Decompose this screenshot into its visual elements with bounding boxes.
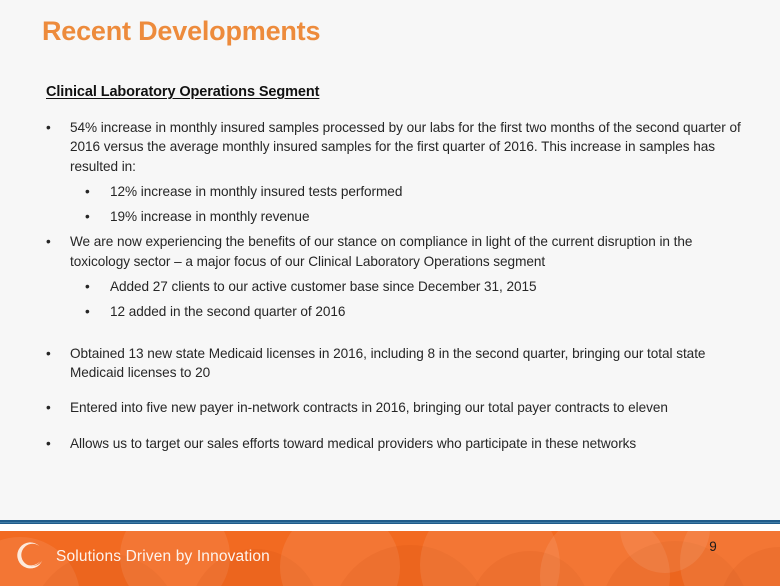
list-item-text: We are now experiencing the benefits of … xyxy=(70,234,692,268)
list-item-text: Allows us to target our sales efforts to… xyxy=(70,436,636,451)
watermark-circle xyxy=(720,547,780,586)
watermark-circle xyxy=(540,531,670,586)
spacer xyxy=(46,382,746,398)
bullet-list: • 54% increase in monthly insured sample… xyxy=(46,118,746,453)
list-item: • We are now experiencing the benefits o… xyxy=(46,232,746,271)
list-item-text: Obtained 13 new state Medicaid licenses … xyxy=(70,346,705,380)
list-item: • 12 added in the second quarter of 2016 xyxy=(46,302,746,321)
list-item-text: 54% increase in monthly insured samples … xyxy=(70,120,741,174)
list-item: • 54% increase in monthly insured sample… xyxy=(46,118,746,176)
bullet-dot-icon: • xyxy=(46,434,51,453)
footer-tagline: Solutions Driven by Innovation xyxy=(56,548,270,566)
bullet-dot-icon: • xyxy=(46,118,51,137)
list-item: • Allows us to target our sales efforts … xyxy=(46,434,746,453)
list-item: • Added 27 clients to our active custome… xyxy=(46,277,746,296)
list-item-text: 12% increase in monthly insured tests pe… xyxy=(110,184,402,199)
watermark-circle xyxy=(600,541,750,586)
list-item-text: 19% increase in monthly revenue xyxy=(110,209,309,224)
spacer xyxy=(46,418,746,434)
list-item: • Obtained 13 new state Medicaid license… xyxy=(46,344,746,383)
list-item-text: Entered into five new payer in-network c… xyxy=(70,400,668,415)
list-item: • 19% increase in monthly revenue xyxy=(46,207,746,226)
page-title: Recent Developments xyxy=(42,16,320,47)
bullet-dot-icon: • xyxy=(46,398,51,417)
watermark-circle xyxy=(280,531,400,586)
bullet-dot-icon: • xyxy=(46,344,51,363)
footer-rule-blue-highlight xyxy=(0,522,780,523)
bullet-dot-icon: • xyxy=(85,182,90,201)
watermark-circle xyxy=(330,545,490,586)
bullet-dot-icon: • xyxy=(85,277,90,296)
section-heading: Clinical Laboratory Operations Segment xyxy=(46,84,746,100)
crescent-swirl-logo-icon xyxy=(15,541,47,573)
watermark-circle xyxy=(620,531,710,573)
list-item: • Entered into five new payer in-network… xyxy=(46,398,746,417)
list-item-text: Added 27 clients to our active customer … xyxy=(110,279,537,294)
spacer xyxy=(46,322,746,344)
watermark-circle xyxy=(470,551,590,586)
slide: Recent Developments Clinical Laboratory … xyxy=(0,0,780,586)
bullet-dot-icon: • xyxy=(46,232,51,251)
bullet-dot-icon: • xyxy=(85,302,90,321)
list-item: • 12% increase in monthly insured tests … xyxy=(46,182,746,201)
bullet-dot-icon: • xyxy=(85,207,90,226)
list-item-text: 12 added in the second quarter of 2016 xyxy=(110,304,345,319)
watermark-circle xyxy=(420,531,560,586)
watermark-circle xyxy=(680,531,780,586)
page-number: 9 xyxy=(700,539,726,554)
slide-body: Clinical Laboratory Operations Segment •… xyxy=(46,84,746,453)
